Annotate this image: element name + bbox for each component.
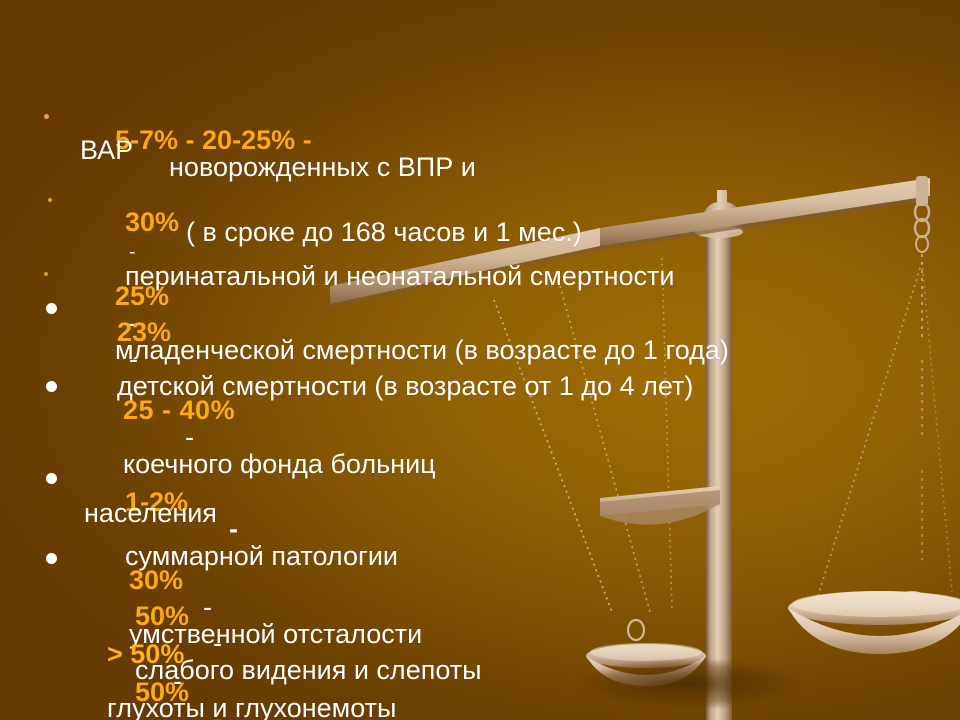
list-bullet xyxy=(46,303,57,314)
list-bullet xyxy=(44,272,48,276)
list-item-continuation: ВАР xyxy=(80,137,133,164)
list-bullet xyxy=(48,198,52,202)
list-bullet xyxy=(46,553,57,564)
list-item-continuation: населения xyxy=(84,500,217,527)
list-item-value: 23% xyxy=(117,317,171,347)
list-item-value: 30% xyxy=(125,207,179,237)
list-item: 50% - врожденной патологии xyxy=(90,652,422,720)
list-item-value: 5-7% - 20-25% - xyxy=(115,125,312,155)
list-bullet xyxy=(46,473,57,484)
list-item-value: 50% xyxy=(135,677,189,707)
slide-body-text: 5-7% - 20-25% - новорожденных с ВПР и ВА… xyxy=(0,0,960,720)
list-item-separator: - xyxy=(213,704,222,720)
list-item-separator: - xyxy=(185,422,194,452)
list-item-text: новорожденных с ВПР и xyxy=(169,152,476,182)
list-bullet xyxy=(46,381,57,392)
slide-canvas: 5-7% - 20-25% - новорожденных с ВПР и ВА… xyxy=(0,0,960,720)
list-item-value: 25 - 40% xyxy=(123,395,235,425)
list-bullet xyxy=(44,114,49,119)
list-item-continuation: ( в сроке до 168 часов и 1 мес.) xyxy=(186,219,582,246)
